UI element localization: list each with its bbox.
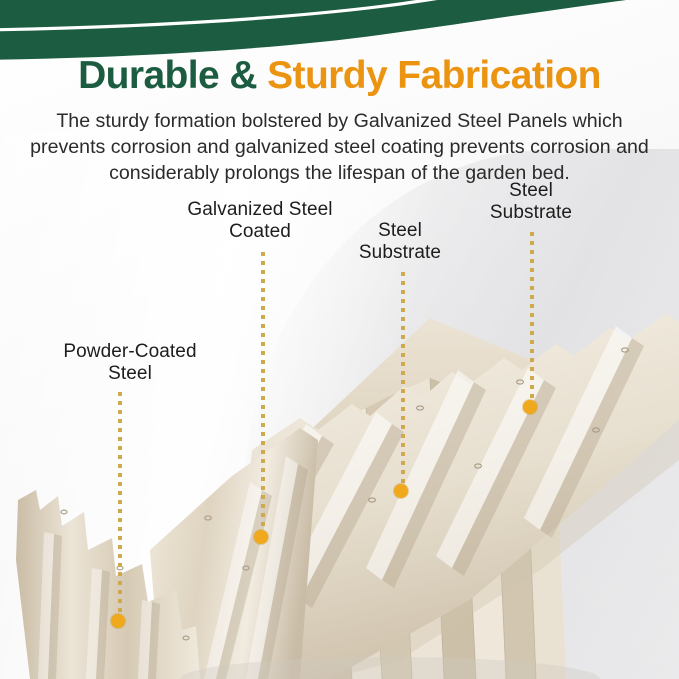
callout-label-steel-substrate-left: Steel Substrate	[335, 220, 465, 264]
page-subtitle: The sturdy formation bolstered by Galvan…	[18, 108, 661, 186]
leader-line-galvanized-steel-coated	[261, 252, 265, 530]
leader-line-powder-coated-steel	[118, 392, 122, 614]
page-title-part-2: Sturdy Fabrication	[267, 54, 601, 97]
leader-line-steel-substrate-left	[401, 272, 405, 484]
page-title-part-1: Durable &	[78, 54, 267, 97]
leader-endpoint-steel-substrate-left	[394, 484, 408, 498]
callout-label-galvanized-steel-coated: Galvanized Steel Coated	[160, 199, 360, 243]
callout-label-powder-coated-steel: Powder-Coated Steel	[30, 341, 230, 385]
leader-endpoint-steel-substrate-right	[523, 400, 537, 414]
infographic-page: Durable & Sturdy Fabrication The sturdy …	[0, 0, 679, 679]
callout-label-steel-substrate-right: Steel Substrate	[466, 180, 596, 224]
leader-endpoint-galvanized-steel-coated	[254, 530, 268, 544]
page-title: Durable & Sturdy Fabrication	[0, 56, 679, 97]
leader-endpoint-powder-coated-steel	[111, 614, 125, 628]
leader-line-steel-substrate-right	[530, 232, 534, 400]
